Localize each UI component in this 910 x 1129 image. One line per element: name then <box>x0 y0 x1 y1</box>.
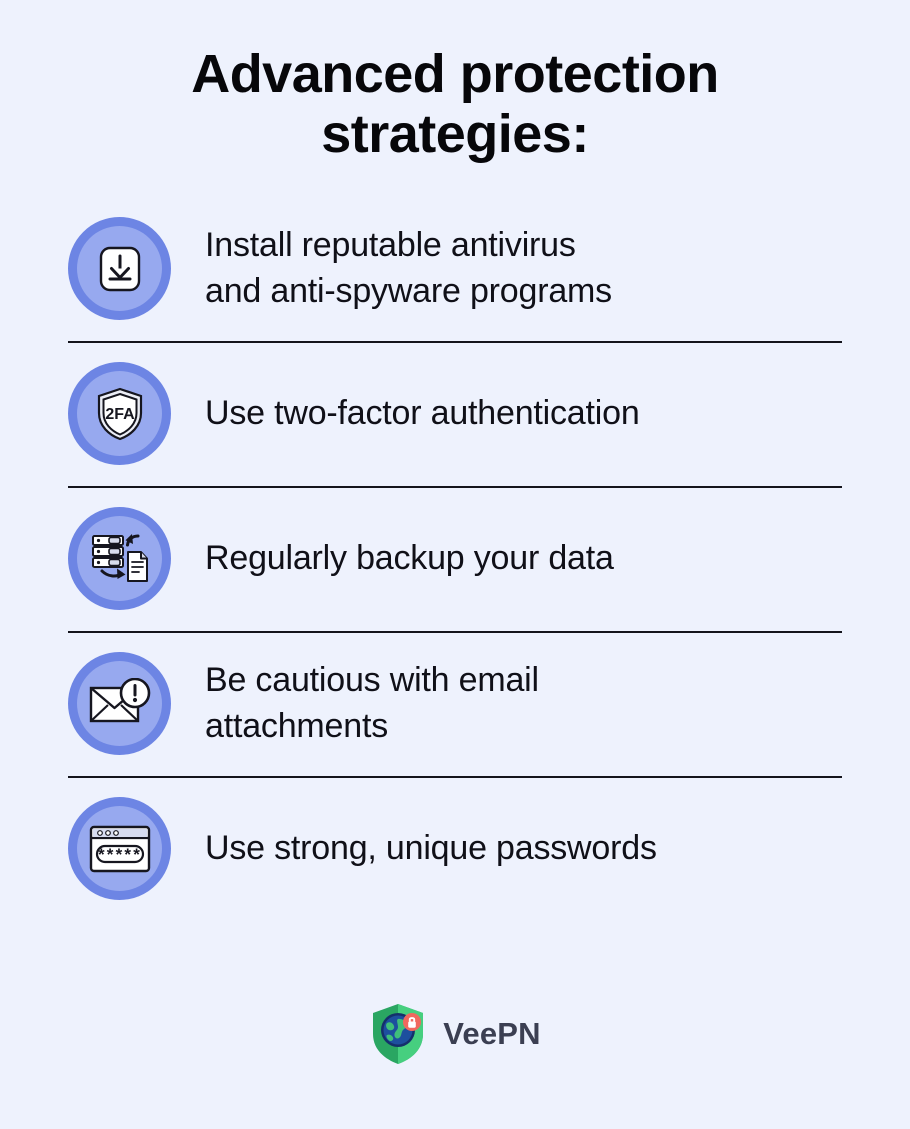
list-item: ***** Use strong, unique passwords <box>0 776 910 921</box>
strategy-list: Install reputable antivirus and anti-spy… <box>0 196 910 921</box>
list-item-label: Install reputable antivirus and anti-spy… <box>205 223 612 313</box>
strategy-icon-badge <box>68 217 171 320</box>
page-title-line-1: Advanced protection <box>191 44 719 104</box>
list-item-label: Use strong, unique passwords <box>205 826 657 871</box>
brand-name: VeePN <box>443 1016 541 1052</box>
strategy-icon-badge: 2FA <box>68 362 171 465</box>
infographic-poster: Advanced protection strategies: Install … <box>0 0 910 1129</box>
page-title: Advanced protection strategies: <box>0 0 910 165</box>
email-warning-icon <box>88 678 152 730</box>
shield-2fa-icon: 2FA <box>91 385 149 443</box>
list-item-label: Be cautious with email attachments <box>205 658 539 748</box>
strategy-icon-badge: ***** <box>68 797 171 900</box>
password-mask-label: ***** <box>97 845 141 864</box>
shield-2fa-label: 2FA <box>105 406 135 423</box>
list-item-label: Use two-factor authentication <box>205 391 640 436</box>
list-item-label: Regularly backup your data <box>205 536 614 581</box>
veepn-shield-globe-logo <box>369 1002 427 1066</box>
password-window-icon: ***** <box>88 823 152 875</box>
list-item: Be cautious with email attachments <box>0 631 910 776</box>
strategy-icon-badge <box>68 507 171 610</box>
list-item: 2FA Use two-factor authentication <box>0 341 910 486</box>
download-antivirus-icon <box>92 241 148 297</box>
strategy-icon-badge <box>68 652 171 755</box>
brand-footer: VeePN <box>0 1002 910 1066</box>
page-title-line-2: strategies: <box>321 104 589 164</box>
server-backup-icon <box>89 529 151 589</box>
list-item: Regularly backup your data <box>0 486 910 631</box>
list-item: Install reputable antivirus and anti-spy… <box>0 196 910 341</box>
